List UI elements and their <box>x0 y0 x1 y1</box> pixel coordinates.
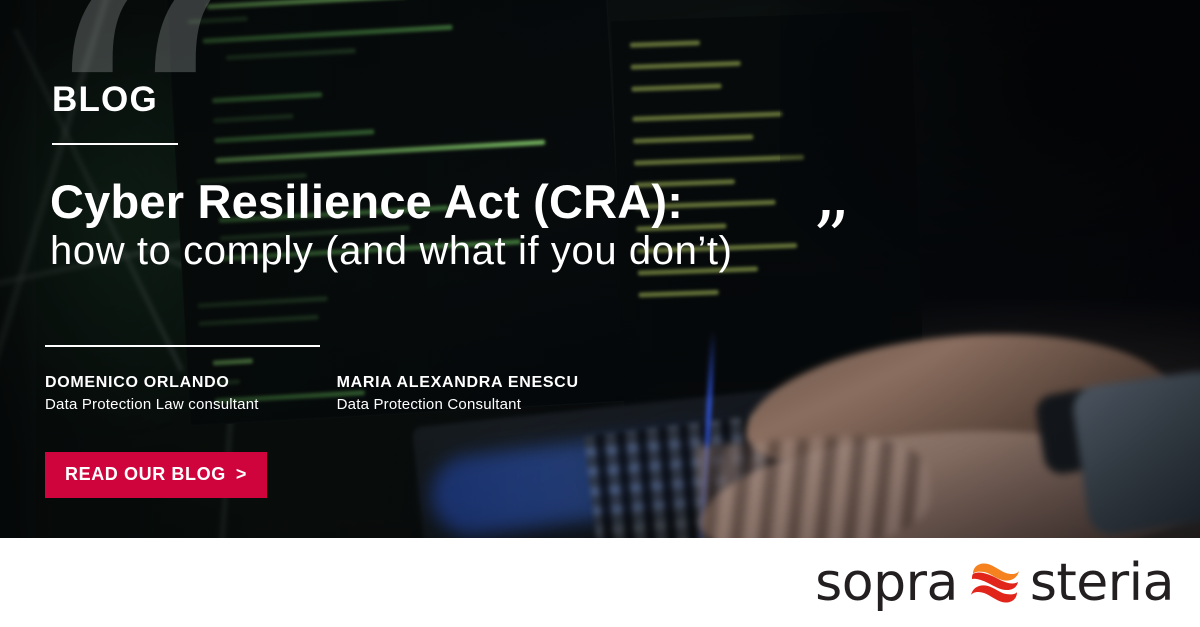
hero-content: BLOG Cyber Resilience Act (CRA): how to … <box>0 0 1200 538</box>
footer-bar: sopra steria <box>0 538 1200 627</box>
title-line-sub: how to comply (and what if you don’t) <box>50 226 910 276</box>
author-item: MARIA ALEXANDRA ENESCU Data Protection C… <box>337 374 579 413</box>
kicker-label: BLOG <box>52 80 158 120</box>
authors-divider <box>45 345 320 347</box>
title-line-main: Cyber Resilience Act (CRA): <box>50 178 910 226</box>
kicker-divider <box>52 143 178 145</box>
page-title: Cyber Resilience Act (CRA): how to compl… <box>50 178 910 276</box>
hero-image: “ BLOG Cyber Resilience Act (CRA): how t… <box>0 0 1200 538</box>
logo-word-sopra: sopra <box>815 557 958 609</box>
author-role: Data Protection Law consultant <box>45 396 259 413</box>
cta-label: READ OUR BLOG <box>65 464 226 485</box>
authors-list: DOMENICO ORLANDO Data Protection Law con… <box>45 374 579 413</box>
author-name: DOMENICO ORLANDO <box>45 374 259 392</box>
author-role: Data Protection Consultant <box>337 396 579 413</box>
sopra-steria-s-mark-icon <box>969 561 1021 605</box>
author-name: MARIA ALEXANDRA ENESCU <box>337 374 579 392</box>
read-our-blog-button[interactable]: READ OUR BLOG > <box>45 452 267 498</box>
blog-promo-banner: “ BLOG Cyber Resilience Act (CRA): how t… <box>0 0 1200 627</box>
closing-quote-icon: ” <box>812 202 850 276</box>
logo-word-steria: steria <box>1030 557 1174 609</box>
sopra-steria-logo: sopra steria <box>815 557 1174 609</box>
author-item: DOMENICO ORLANDO Data Protection Law con… <box>45 374 259 413</box>
chevron-right-icon: > <box>236 464 247 485</box>
